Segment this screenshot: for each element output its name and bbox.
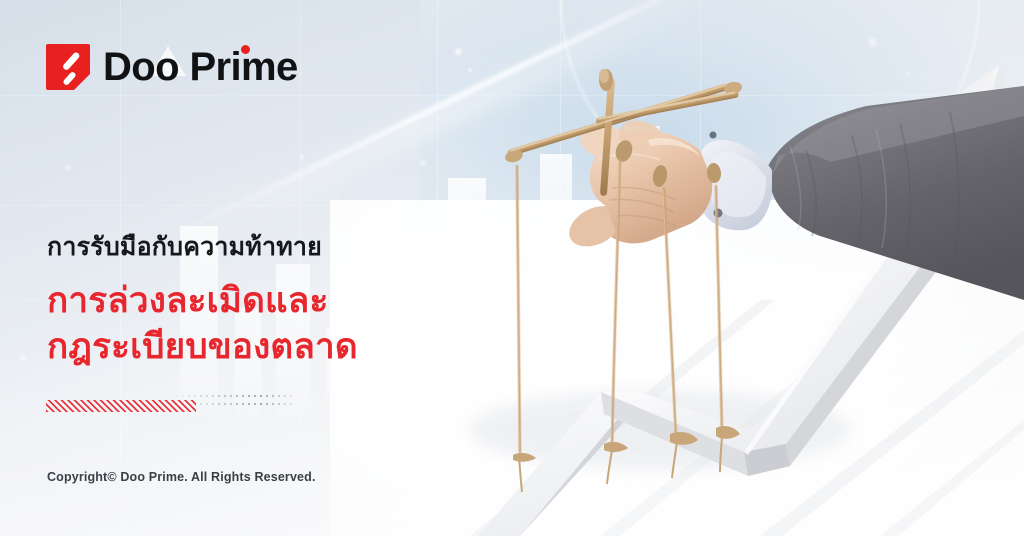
copyright-text: Copyright© Doo Prime. All Rights Reserve… xyxy=(47,470,316,484)
brand-logo[interactable]: Doo Prime xyxy=(46,44,298,90)
hero-title: การล่วงละเมิดและ กฎระเบียบของตลาด xyxy=(47,278,358,370)
divider-dot-grid xyxy=(168,392,296,410)
doo-prime-logo-mark xyxy=(46,44,90,90)
brand-wordmark: Doo Prime xyxy=(103,47,298,87)
hand-and-sleeve xyxy=(569,86,1024,300)
brand-accent-dot xyxy=(241,45,250,54)
hero-title-line-1: การล่วงละเมิดและ xyxy=(47,278,358,324)
hero-title-line-2: กฎระเบียบของตลาด xyxy=(47,324,358,370)
hero-subtitle: การรับมือกับความท้าทาย xyxy=(47,232,322,263)
hero-banner: Doo Prime การรับมือกับความท้าทาย การล่วง… xyxy=(0,0,1024,536)
brand-wordmark-text: Doo Prime xyxy=(103,45,298,89)
decorative-divider xyxy=(46,392,296,414)
